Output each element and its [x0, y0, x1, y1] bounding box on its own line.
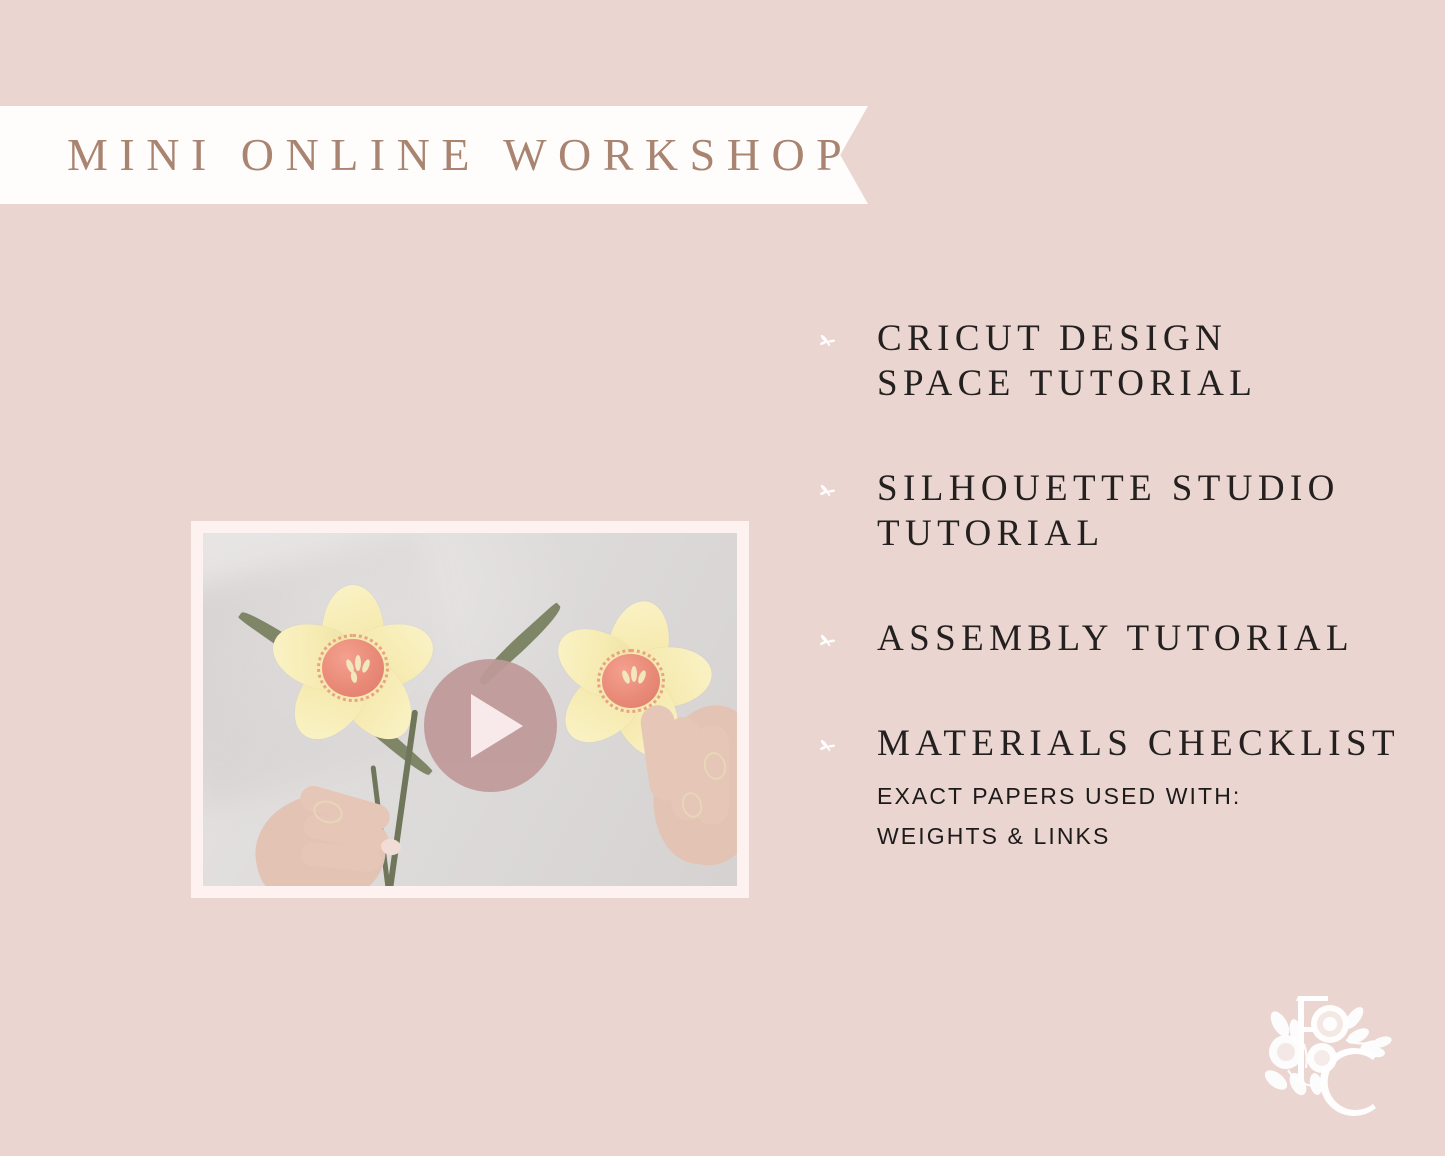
list-item-subtext: EXACT PAPERS USED WITH: WEIGHTS & LINKS: [877, 776, 1412, 856]
video-card[interactable]: [191, 521, 749, 898]
play-button[interactable]: [424, 659, 557, 792]
list-item: MATERIALS CHECKLIST EXACT PAPERS USED WI…: [812, 721, 1412, 856]
header-ribbon-banner: MINI ONLINE WORKSHOP: [0, 106, 868, 204]
list-item-label: SILHOUETTE STUDIO TUTORIAL: [877, 466, 1412, 556]
brand-logo: [1258, 988, 1408, 1128]
play-icon: [471, 694, 523, 758]
video-thumbnail[interactable]: [203, 533, 737, 886]
butterfly-icon: [816, 735, 840, 759]
page-title: MINI ONLINE WORKSHOP: [67, 132, 853, 178]
butterfly-icon: [816, 480, 840, 504]
list-item-label: CRICUT DESIGN SPACE TUTORIAL: [877, 316, 1412, 406]
list-item: ASSEMBLY TUTORIAL: [812, 616, 1412, 661]
list-item: CRICUT DESIGN SPACE TUTORIAL: [812, 316, 1412, 406]
butterfly-icon: [816, 330, 840, 354]
list-item-label: ASSEMBLY TUTORIAL: [877, 616, 1412, 661]
feature-list: CRICUT DESIGN SPACE TUTORIAL SILHOUETTE …: [812, 316, 1412, 856]
list-item: SILHOUETTE STUDIO TUTORIAL: [812, 466, 1412, 556]
paper-daffodil-left: [263, 583, 443, 753]
butterfly-icon: [816, 630, 840, 654]
list-item-label: MATERIALS CHECKLIST: [877, 721, 1412, 766]
poster-canvas: MINI ONLINE WORKSHOP: [0, 0, 1445, 1156]
